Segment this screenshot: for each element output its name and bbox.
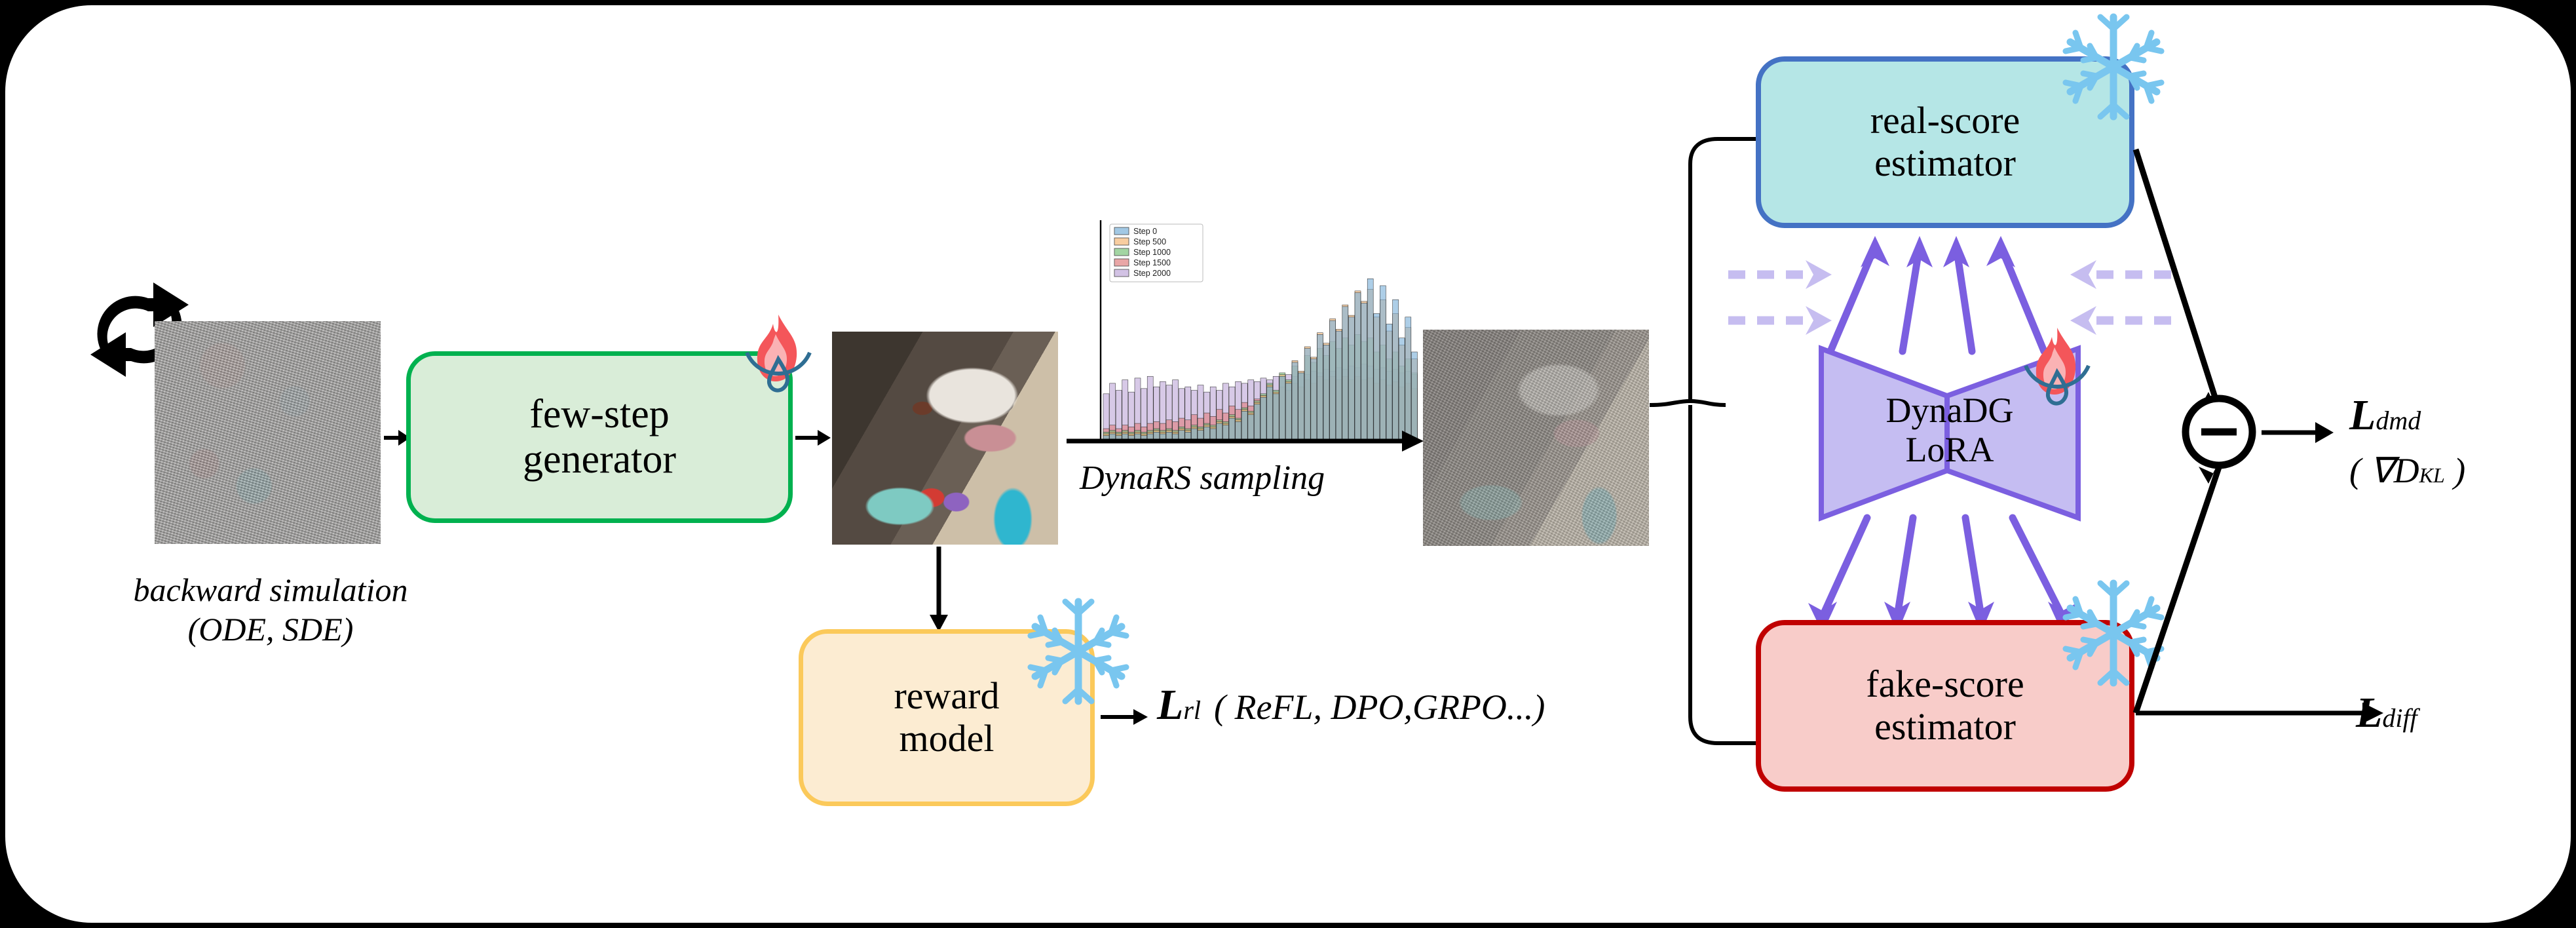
backward-simulation-caption: backward simulation (ODE, SDE) [45,570,497,649]
dynars-sampling-label: DynaRS sampling [1080,459,1325,497]
caption-line-2: (ODE, SDE) [45,609,497,649]
arrow-generator-to-sample [795,418,831,457]
figure-panel: backward simulation (ODE, SDE) few-step … [5,5,2571,923]
real-estimator-label-2: estimator [1870,142,2020,185]
real-estimator-label-1: real-score [1870,100,2020,142]
branch-connector [1650,123,1768,785]
svg-text:Step 2000: Step 2000 [1133,269,1171,278]
flame-droplet-icon [2011,325,2103,443]
generator-label-2: generator [523,437,676,482]
arrow-dynars-sampling [1067,425,1424,457]
dmd-detail-grad: ∇D [2370,451,2419,490]
dmd-detail-sub: KL [2419,463,2445,487]
noise-image [155,321,381,544]
svg-text:Step 1000: Step 1000 [1133,248,1171,257]
svg-text:Step 500: Step 500 [1133,237,1166,246]
dmd-loss-label: Ldmd ( ∇DKL ) [2349,391,2465,491]
dmd-detail-open: ( [2349,451,2370,490]
diff-loss-label: Ldiff [2356,688,2417,738]
dynars-histogram: Step 0Step 500Step 1000Step 1500Step 200… [1080,202,1420,451]
generated-sample-image [832,332,1058,545]
snowflake-icon [1026,595,1131,710]
dmd-detail-close: ) [2445,451,2465,490]
reward-label: reward model [894,675,999,760]
rl-loss-detail: ( ReFL, DPO,GRPO...) [1214,687,1545,727]
svg-text:Step 0: Step 0 [1133,227,1157,236]
arrow-sample-to-reward [919,547,958,632]
dmd-loss-symbol: L [2349,391,2376,439]
dmd-loss-subscript: dmd [2376,406,2421,435]
noised-sample-image [1423,330,1649,546]
generator-label-1: few-step [523,392,676,437]
lora-down-arrows [1769,518,2110,633]
reward-label-1: reward [894,675,999,718]
diff-loss-symbol: L [2356,689,2382,737]
diff-loss-subscript: diff [2382,703,2417,733]
fake-estimator-label-1: fake-score [1866,663,2024,706]
arrow-to-dmd-loss [2262,413,2334,452]
rl-loss-symbol: L [1157,681,1183,729]
real-estimator-label: real-score estimator [1870,100,2020,185]
svg-text:Step 1500: Step 1500 [1133,258,1171,267]
fake-estimator-label-2: estimator [1866,706,2024,748]
rl-loss-subscript: rl [1183,695,1201,725]
rl-loss-label: Lrl ( ReFL, DPO,GRPO...) [1157,680,1545,730]
minus-circle-icon [2179,392,2259,472]
reward-label-2: model [894,718,999,760]
generator-label: few-step generator [523,392,676,483]
fake-estimator-label: fake-score estimator [1866,663,2024,748]
flame-droplet-icon [732,312,824,423]
caption-line-1: backward simulation [45,570,497,609]
arrow-reward-to-rl-loss [1101,699,1148,735]
